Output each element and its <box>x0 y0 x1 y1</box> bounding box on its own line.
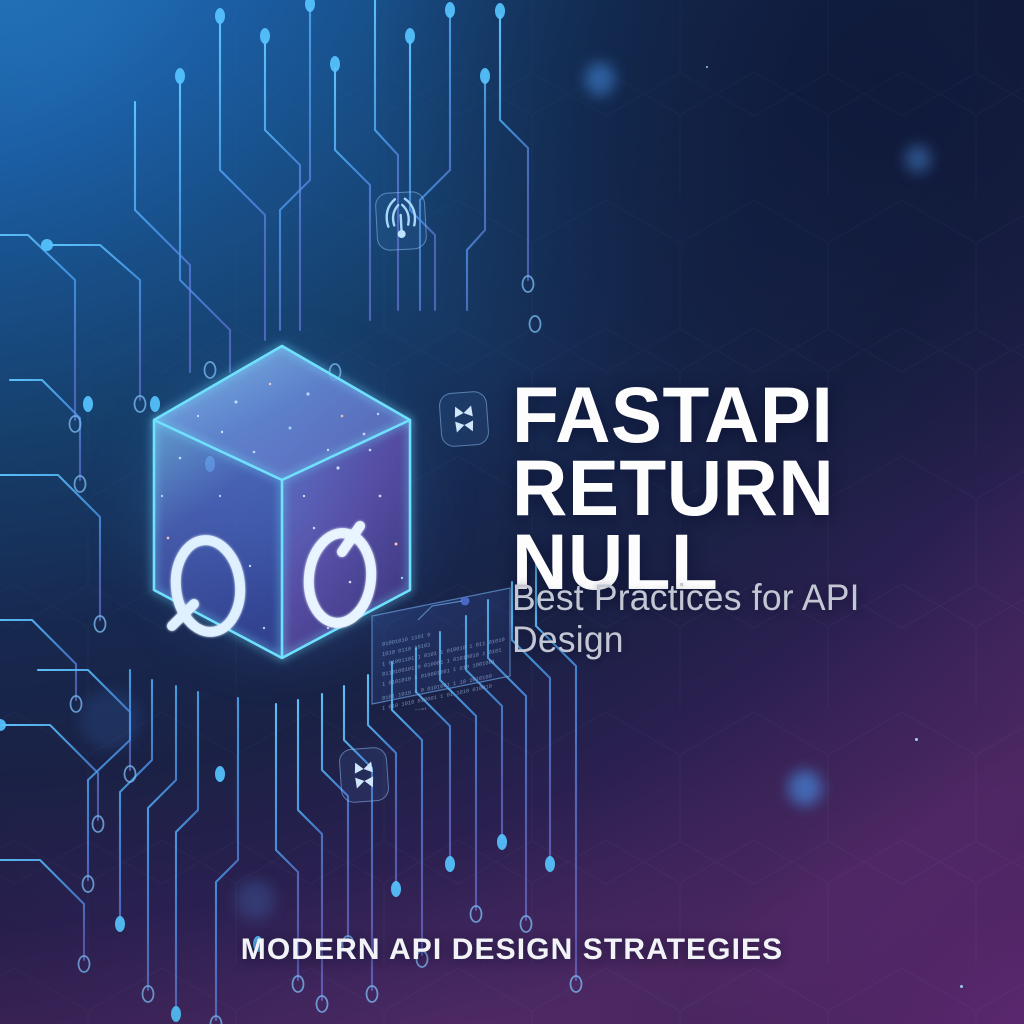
page-subtitle: Best Practices for API Design <box>512 577 963 661</box>
page-title: FASTAPI RETURN NULL <box>512 378 987 598</box>
footer-tagline: MODERN API DESIGN STRATEGIES <box>0 933 1024 967</box>
poster-canvas: 01001010 1101 0 1010 0110 10101 1 010011… <box>0 0 1024 1024</box>
